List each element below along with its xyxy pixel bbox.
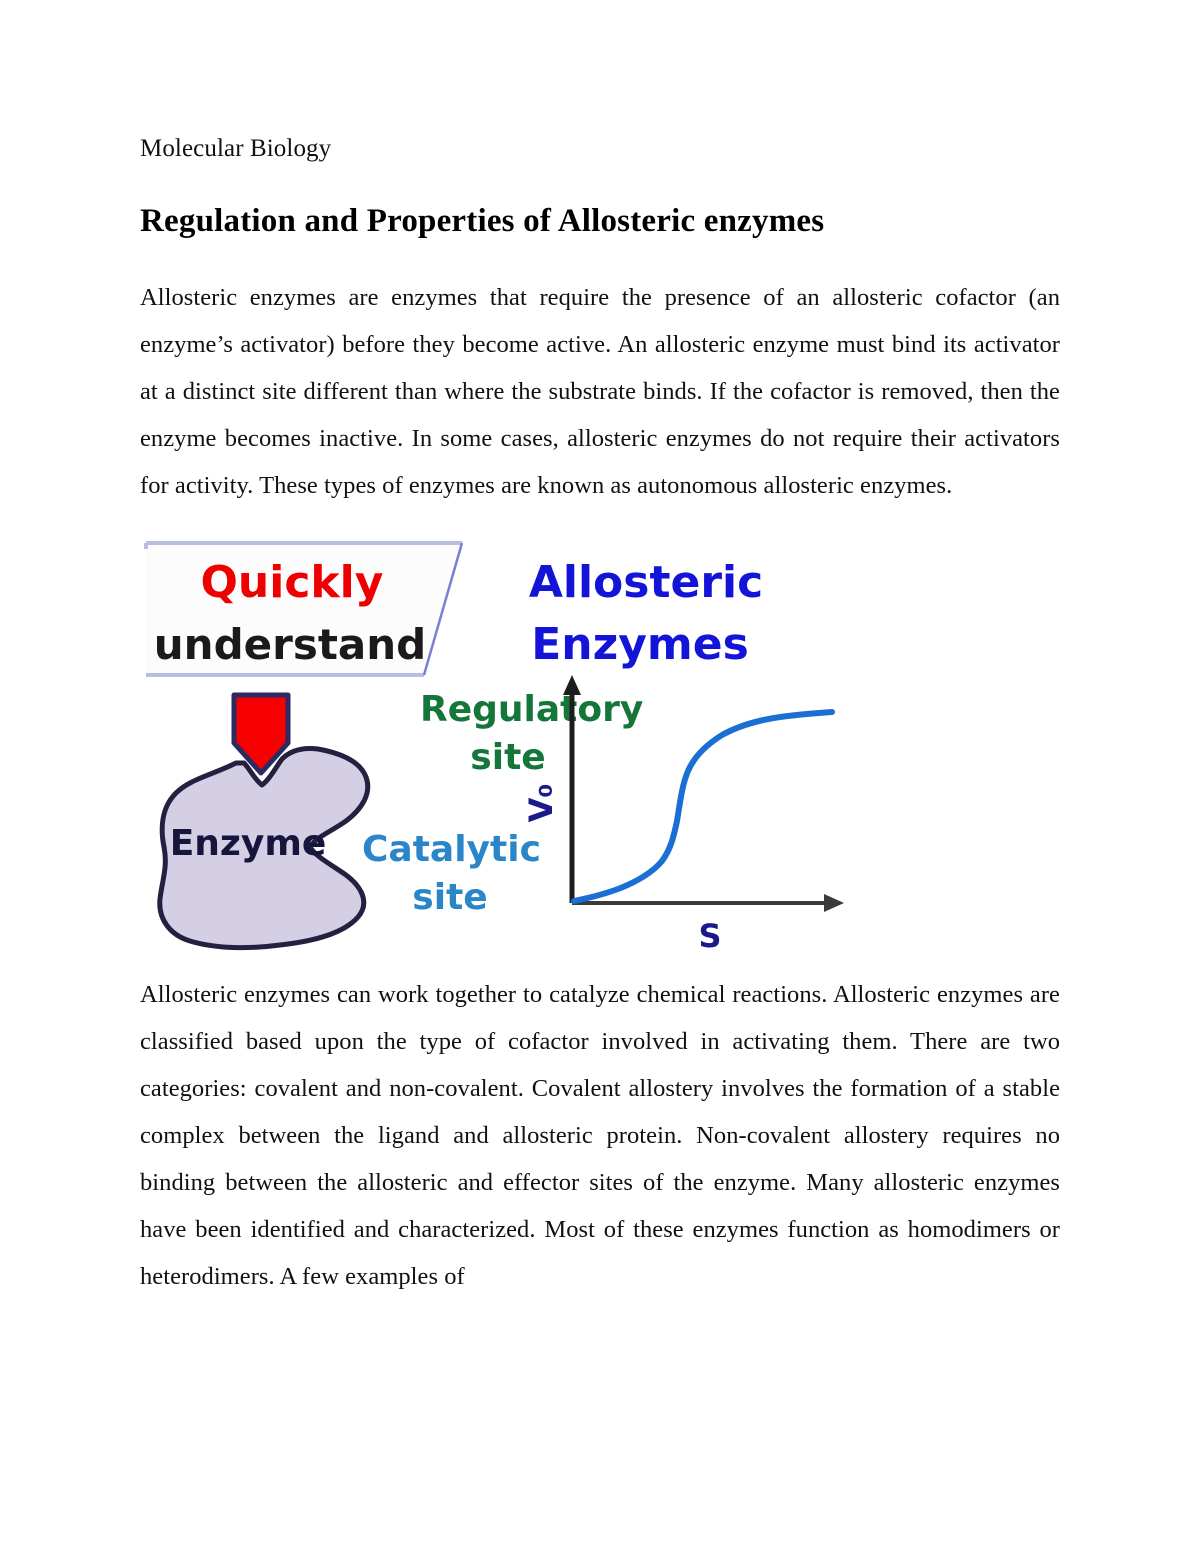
regulatory-site-line1: Regulatory [420,689,643,730]
paragraph-intro: Allosteric enzymes are enzymes that requ… [140,274,1060,509]
page-title: Regulation and Properties of Allosteric … [140,200,1060,242]
document-page: Molecular Biology Regulation and Propert… [0,0,1200,1553]
figure-heading-line2: Enzymes [531,619,749,670]
y-axis-label: V₀ [522,784,560,823]
enzyme-shape-group: Enzyme [160,748,368,947]
regulatory-site-label: Regulatory site [420,689,643,778]
paragraph-classification: Allosteric enzymes can work together to … [140,971,1060,1300]
sigmoid-curve [574,712,832,901]
document-content: Molecular Biology Regulation and Propert… [140,132,1060,1300]
y-axis-label-group: V₀ [522,784,560,823]
quickly-understand-banner: Quickly understand [146,543,462,675]
allosteric-enzyme-figure: Quickly understand Allosteric Enzymes En… [140,535,860,955]
document-subject-line: Molecular Biology [140,132,1060,166]
x-axis-label: S [698,917,721,955]
catalytic-site-label: Catalytic site [362,829,541,918]
catalytic-site-line2: site [412,877,487,918]
regulatory-site-line2: site [470,737,545,778]
y-axis-arrowhead [563,675,581,695]
figure-heading: Allosteric Enzymes [529,557,763,670]
figure-graphic: Quickly understand Allosteric Enzymes En… [140,535,860,955]
kinetics-plot: V₀ S [522,675,844,955]
banner-line-quickly: Quickly [201,557,384,608]
catalytic-site-line1: Catalytic [362,829,541,870]
x-axis-arrowhead [824,894,844,912]
figure-heading-line1: Allosteric [529,557,763,608]
enzyme-label: Enzyme [170,823,327,864]
banner-line-understand: understand [154,620,426,669]
